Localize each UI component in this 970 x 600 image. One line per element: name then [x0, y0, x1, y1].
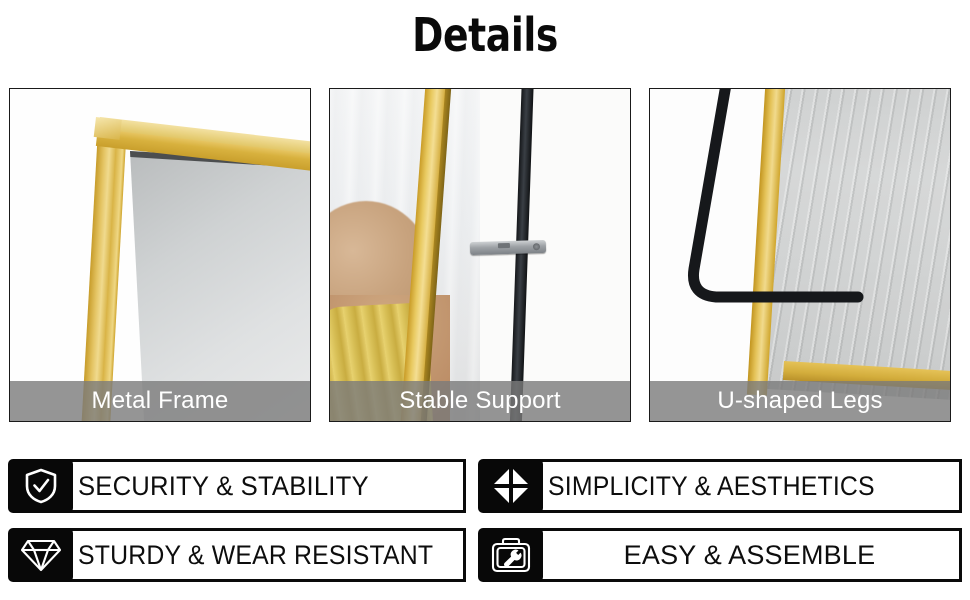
- page-title: Details: [87, 8, 882, 62]
- feature-sturdy-wear-resistant[interactable]: STURDY & WEAR RESISTANT: [8, 528, 466, 582]
- toolbox-wrench-icon: [478, 528, 543, 582]
- gem-icon: [8, 528, 73, 582]
- feature-row: STURDY & WEAR RESISTANT EASY & ASSEMBLE: [8, 528, 962, 582]
- feature-label: SECURITY & STABILITY: [67, 459, 466, 513]
- panel-caption: Stable Support: [330, 381, 630, 421]
- feature-label: EASY & ASSEMBLE: [537, 528, 962, 582]
- panel-image-stable-support: [330, 89, 630, 421]
- detail-panel-u-shaped-legs[interactable]: U-shaped Legs: [649, 88, 951, 422]
- detail-panel-stable-support[interactable]: Stable Support: [329, 88, 631, 422]
- panel-caption: Metal Frame: [10, 381, 310, 421]
- feature-label: SIMPLICITY & AESTHETICS: [537, 459, 962, 513]
- feature-row: SECURITY & STABILITY SIMPLICITY & AESTHE…: [8, 459, 962, 513]
- detail-panels: Metal Frame Stable Support U-shaped Le: [9, 88, 959, 422]
- feature-simplicity-aesthetics[interactable]: SIMPLICITY & AESTHETICS: [478, 459, 962, 513]
- feature-label: STURDY & WEAR RESISTANT: [67, 528, 466, 582]
- panel-caption: U-shaped Legs: [650, 381, 950, 421]
- panel-image-metal-frame: [10, 89, 310, 421]
- shield-check-icon: [8, 459, 73, 513]
- feature-easy-assemble[interactable]: EASY & ASSEMBLE: [478, 528, 962, 582]
- feature-list: SECURITY & STABILITY SIMPLICITY & AESTHE…: [8, 459, 962, 582]
- panel-image-u-shaped-legs: [650, 89, 950, 421]
- u-shaped-leg-shape: [676, 89, 866, 333]
- feature-security-stability[interactable]: SECURITY & STABILITY: [8, 459, 466, 513]
- detail-panel-metal-frame[interactable]: Metal Frame: [9, 88, 311, 422]
- diamond-quadrant-icon: [478, 459, 543, 513]
